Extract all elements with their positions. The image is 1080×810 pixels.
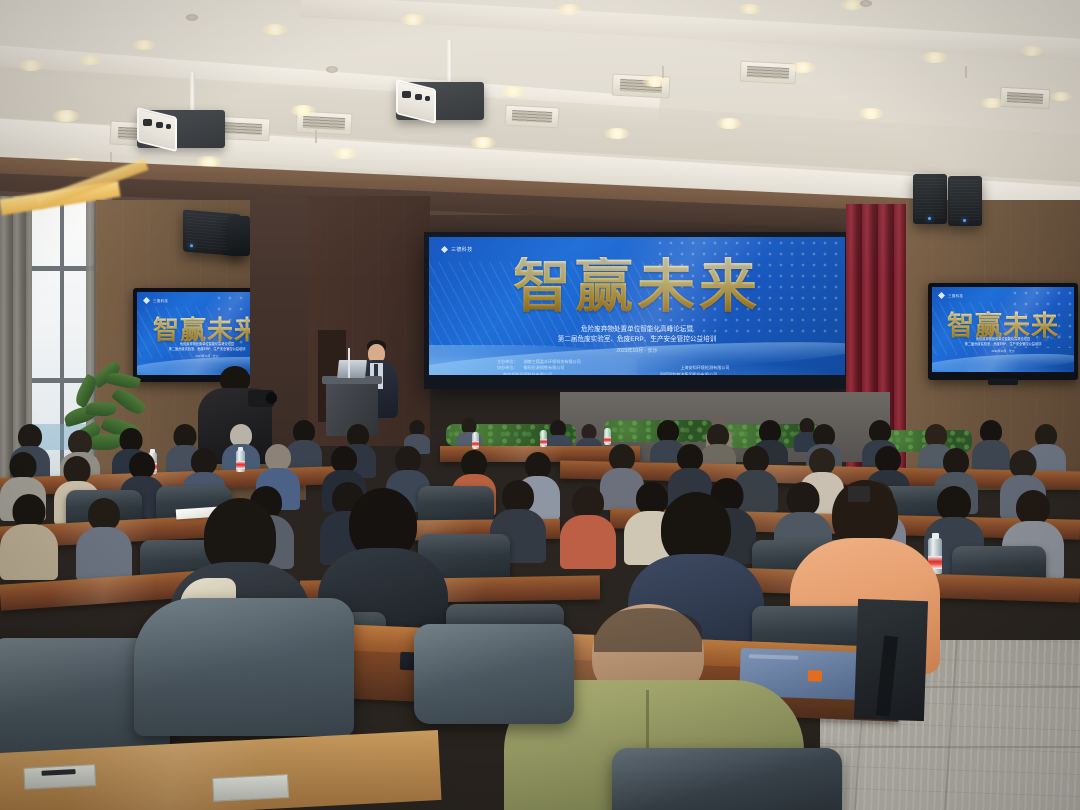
- smoke-detector-icon: [186, 14, 198, 21]
- hvac-vent: [504, 105, 559, 129]
- desk-inlay-panel: [212, 774, 289, 802]
- slide-logo-text: 三德科技: [153, 298, 168, 303]
- water-bottle: [472, 432, 479, 449]
- diamond-logo-icon: [441, 246, 448, 253]
- camera-lens-icon: [266, 392, 277, 404]
- conference-hall-photo: 三德科技 智赢未来 危险废弃物处置单位智能化高峰论坛暨 第二届危废实验室、危废E…: [0, 0, 1080, 810]
- slide-content-mirror: 三德科技 智赢未来 危险废弃物处置单位智能化高峰论坛暨 第二届危废实验室、危废E…: [932, 287, 1074, 372]
- attendee-hair: [594, 608, 702, 652]
- wall-speaker: [913, 174, 947, 224]
- smoke-detector-icon: [860, 0, 872, 7]
- slide-logo-text: 三德科技: [948, 293, 963, 298]
- hair-clip: [848, 486, 870, 502]
- slide-logo-text: 三德科技: [451, 246, 473, 253]
- wall-speaker: [948, 176, 982, 226]
- presentation-slide: 三德科技 智赢未来 危险废弃物处置单位智能化高峰论坛暨 第二届危废实验室、危废E…: [429, 237, 845, 375]
- hvac-vent: [739, 61, 796, 85]
- water-bottle: [236, 450, 245, 472]
- projector-mount-rod: [447, 40, 452, 85]
- main-projection-screen: 三德科技 智赢未来 危险废弃物处置单位智能化高峰论坛暨 第二届危废实验室、危废E…: [424, 232, 850, 389]
- desk-inlay-panel: [23, 764, 96, 790]
- wall-speaker: [228, 216, 250, 256]
- foreground-chair[interactable]: [414, 624, 574, 724]
- hvac-vent: [1000, 87, 1051, 110]
- water-bottle: [604, 428, 611, 445]
- podium-laptop: [337, 360, 367, 378]
- ceiling-projector: [396, 82, 484, 120]
- slide-main-title: 智赢未来: [429, 257, 845, 315]
- ceiling-projector: [137, 110, 225, 148]
- foreground-chair[interactable]: [612, 748, 842, 810]
- brand-logo: 三德科技: [441, 246, 473, 253]
- smoke-detector-icon: [326, 66, 338, 73]
- foreground-chair[interactable]: [134, 598, 354, 736]
- right-wall-display: 三德科技 智赢未来 危险废弃物处置单位智能化高峰论坛暨 第二届危废实验室、危废E…: [928, 283, 1078, 380]
- microphone-stem: [348, 348, 350, 378]
- water-bottle: [540, 430, 547, 447]
